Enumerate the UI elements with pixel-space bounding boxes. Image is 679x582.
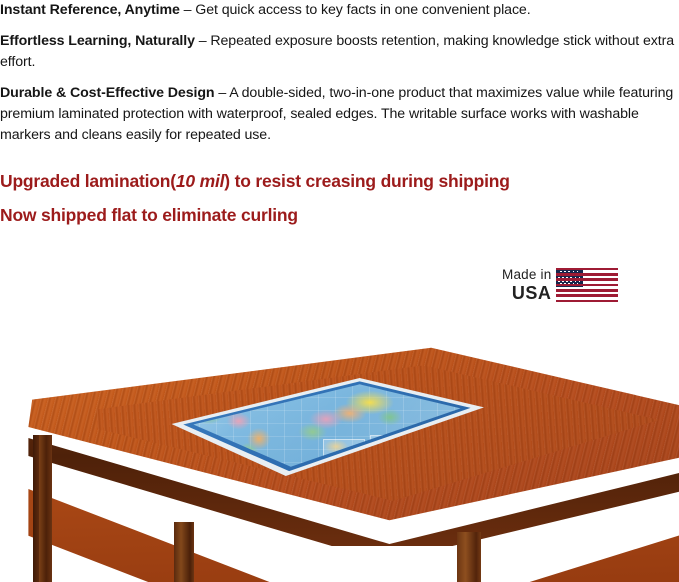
- flag-stripe: [556, 300, 618, 303]
- promo-text-before: Upgraded lamination(: [0, 171, 176, 191]
- product-photo-table-with-map: [0, 340, 679, 582]
- feature-lead-label: Instant Reference, Anytime: [0, 2, 180, 18]
- promo-highlight-block: Upgraded lamination(10 mil) to resist cr…: [0, 170, 679, 238]
- feature-paragraph-instant-reference: Instant Reference, Anytime – Get quick a…: [0, 0, 679, 21]
- table-leg-middle: [174, 522, 194, 582]
- promo-line-lamination: Upgraded lamination(10 mil) to resist cr…: [0, 170, 679, 192]
- flag-stripe: [556, 278, 618, 281]
- feature-paragraph-effortless-learning: Effortless Learning, Naturally – Repeate…: [0, 31, 679, 73]
- feature-dash: –: [195, 33, 210, 49]
- feature-lead-label: Effortless Learning, Naturally: [0, 33, 195, 49]
- promo-text-after: ) to resist creasing during shipping: [224, 171, 509, 191]
- flag-stripe: [556, 289, 618, 292]
- us-flag-icon: [556, 268, 618, 303]
- flag-stripe: [556, 268, 618, 271]
- feature-lead-label: Durable & Cost-Effective Design: [0, 85, 215, 101]
- made-in-usa-badge: Made in USA: [502, 262, 630, 308]
- flag-stripe: [556, 294, 618, 297]
- feature-paragraph-durable-design: Durable & Cost-Effective Design – A doub…: [0, 83, 679, 146]
- promo-line-shipped-flat: Now shipped flat to eliminate curling: [0, 204, 679, 226]
- feature-dash: –: [180, 2, 195, 18]
- flag-stripe: [556, 273, 618, 276]
- feature-dash: –: [215, 85, 230, 101]
- made-in-usa-text: Made in USA: [502, 268, 551, 303]
- table-leg-left-shadow: [33, 435, 39, 582]
- flag-stripe: [556, 284, 618, 287]
- promo-text-emphasis: 10 mil: [176, 171, 224, 191]
- country-label: USA: [512, 284, 552, 302]
- feature-body-text: Get quick access to key facts in one con…: [195, 2, 530, 18]
- feature-copy-block: Instant Reference, Anytime – Get quick a…: [0, 0, 679, 156]
- table-leg-right: [457, 532, 481, 582]
- made-in-label: Made in: [502, 268, 551, 282]
